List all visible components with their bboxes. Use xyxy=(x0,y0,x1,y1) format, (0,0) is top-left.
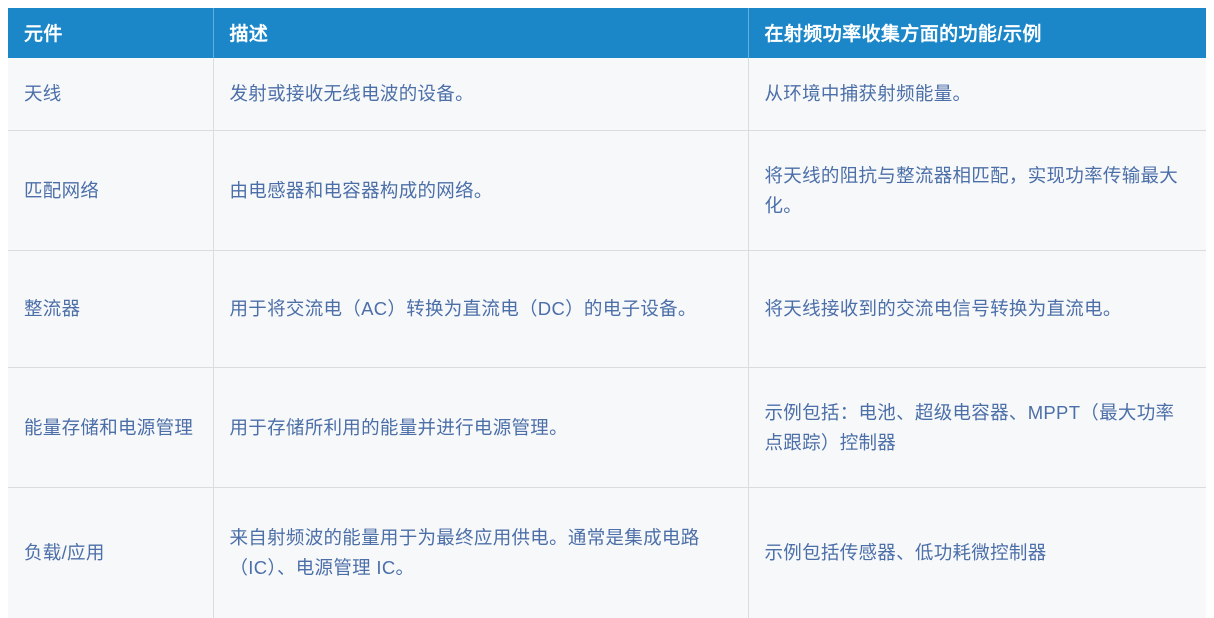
table-row: 负载/应用 来自射频波的能量用于为最终应用供电。通常是集成电路（IC）、电源管理… xyxy=(8,488,1206,618)
cell-function: 将天线的阻抗与整流器相匹配，实现功率传输最大化。 xyxy=(748,131,1206,251)
cell-function: 示例包括：电池、超级电容器、MPPT（最大功率点跟踪）控制器 xyxy=(748,368,1206,488)
cell-component: 能量存储和电源管理 xyxy=(8,368,213,488)
table-body: 天线 发射或接收无线电波的设备。 从环境中捕获射频能量。 匹配网络 由电感器和电… xyxy=(8,58,1206,618)
cell-function: 将天线接收到的交流电信号转换为直流电。 xyxy=(748,251,1206,368)
table-row: 整流器 用于将交流电（AC）转换为直流电（DC）的电子设备。 将天线接收到的交流… xyxy=(8,251,1206,368)
rf-energy-harvesting-table-container: 元件 描述 在射频功率收集方面的功能/示例 天线 发射或接收无线电波的设备。 从… xyxy=(0,0,1214,494)
table-header-row: 元件 描述 在射频功率收集方面的功能/示例 xyxy=(8,8,1206,58)
cell-description: 用于存储所利用的能量并进行电源管理。 xyxy=(213,368,748,488)
cell-component: 负载/应用 xyxy=(8,488,213,618)
cell-component: 匹配网络 xyxy=(8,131,213,251)
table-header: 元件 描述 在射频功率收集方面的功能/示例 xyxy=(8,8,1206,58)
cell-description: 来自射频波的能量用于为最终应用供电。通常是集成电路（IC）、电源管理 IC。 xyxy=(213,488,748,618)
cell-description: 用于将交流电（AC）转换为直流电（DC）的电子设备。 xyxy=(213,251,748,368)
cell-component: 天线 xyxy=(8,58,213,131)
cell-description: 由电感器和电容器构成的网络。 xyxy=(213,131,748,251)
cell-function: 从环境中捕获射频能量。 xyxy=(748,58,1206,131)
table-row: 匹配网络 由电感器和电容器构成的网络。 将天线的阻抗与整流器相匹配，实现功率传输… xyxy=(8,131,1206,251)
column-header-description: 描述 xyxy=(213,8,748,58)
cell-description: 发射或接收无线电波的设备。 xyxy=(213,58,748,131)
column-header-component: 元件 xyxy=(8,8,213,58)
cell-component: 整流器 xyxy=(8,251,213,368)
column-header-function: 在射频功率收集方面的功能/示例 xyxy=(748,8,1206,58)
table-row: 天线 发射或接收无线电波的设备。 从环境中捕获射频能量。 xyxy=(8,58,1206,131)
rf-energy-harvesting-table: 元件 描述 在射频功率收集方面的功能/示例 天线 发射或接收无线电波的设备。 从… xyxy=(8,8,1206,618)
cell-function: 示例包括传感器、低功耗微控制器 xyxy=(748,488,1206,618)
table-row: 能量存储和电源管理 用于存储所利用的能量并进行电源管理。 示例包括：电池、超级电… xyxy=(8,368,1206,488)
